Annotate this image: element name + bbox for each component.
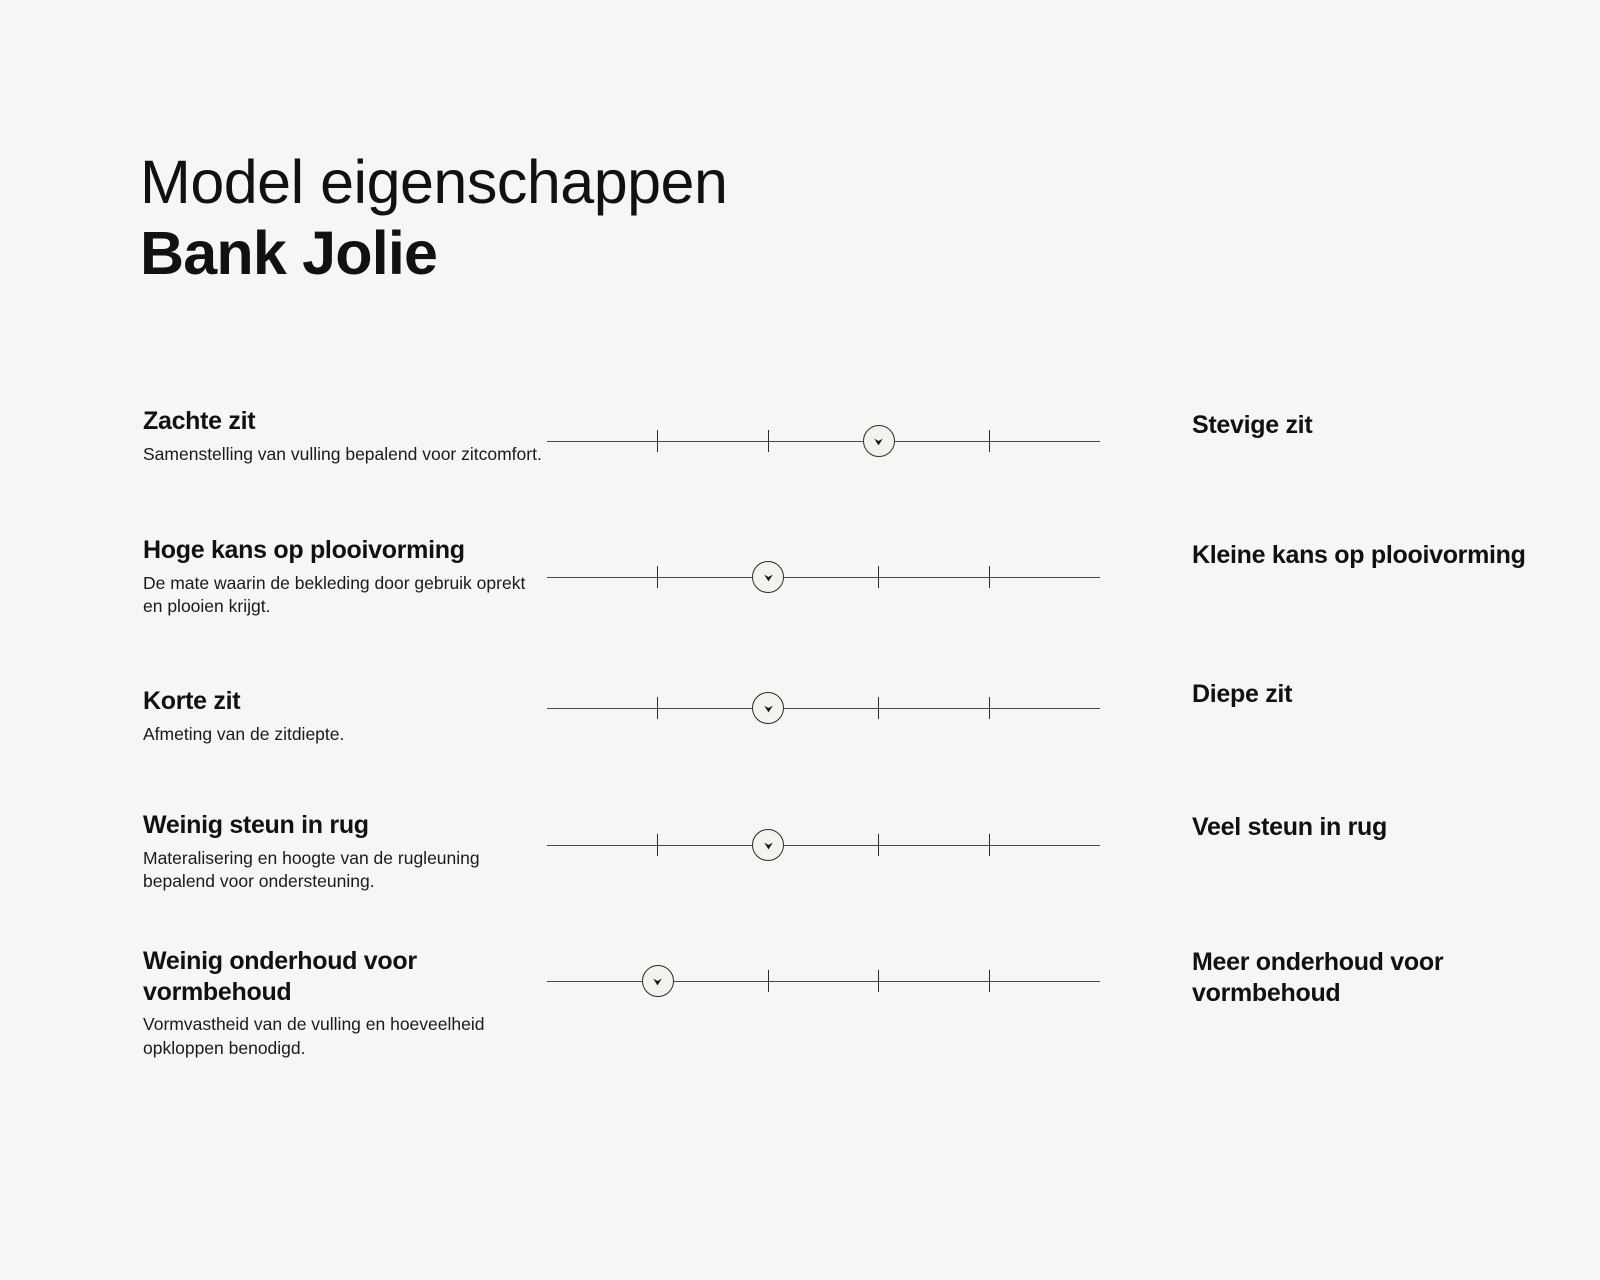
property-right-block: Meer onderhoud voor vormbehoud — [1192, 947, 1552, 1008]
chevron-down-icon — [871, 434, 886, 449]
slider-track[interactable] — [547, 441, 1100, 442]
property-description: Samenstelling van vulling bepalend voor … — [143, 443, 543, 467]
slider-tick-1 — [657, 697, 658, 719]
property-left-block: Korte zitAfmeting van de zitdiepte. — [143, 686, 543, 746]
property-right-label: Kleine kans op plooivorming — [1192, 540, 1552, 571]
slider-track[interactable] — [547, 981, 1100, 982]
slider-tick-4 — [989, 834, 990, 856]
property-right-label: Diepe zit — [1192, 679, 1552, 710]
property-slider[interactable] — [547, 825, 1100, 865]
chevron-down-icon — [650, 974, 665, 989]
slider-handle[interactable] — [752, 829, 784, 861]
property-left-label: Zachte zit — [143, 406, 543, 437]
slider-tick-3 — [878, 970, 879, 992]
slider-track[interactable] — [547, 577, 1100, 578]
property-right-label: Veel steun in rug — [1192, 812, 1552, 843]
property-right-block: Kleine kans op plooivorming — [1192, 540, 1552, 571]
property-left-label: Hoge kans op plooivorming — [143, 535, 543, 566]
slider-tick-1 — [657, 834, 658, 856]
property-slider[interactable] — [547, 421, 1100, 461]
slider-track[interactable] — [547, 708, 1100, 709]
property-description: Materalisering en hoogte van de rugleuni… — [143, 847, 543, 894]
slider-handle[interactable] — [752, 561, 784, 593]
property-description: De mate waarin de bekleding door gebruik… — [143, 572, 543, 619]
chevron-down-icon — [761, 570, 776, 585]
property-description: Afmeting van de zitdiepte. — [143, 723, 543, 747]
property-left-label: Weinig onderhoud voor vormbehoud — [143, 946, 543, 1007]
property-rows: Zachte zitSamenstelling van vulling bepa… — [0, 0, 1600, 1280]
slider-tick-4 — [989, 697, 990, 719]
property-left-block: Weinig onderhoud voor vormbehoudVormvast… — [143, 946, 543, 1060]
slider-handle[interactable] — [642, 965, 674, 997]
property-left-block: Weinig steun in rugMateralisering en hoo… — [143, 810, 543, 894]
property-right-block: Stevige zit — [1192, 410, 1552, 441]
slider-tick-1 — [657, 430, 658, 452]
slider-handle[interactable] — [752, 692, 784, 724]
property-description: Vormvastheid van de vulling en hoeveelhe… — [143, 1013, 543, 1060]
property-left-label: Korte zit — [143, 686, 543, 717]
slider-tick-4 — [989, 430, 990, 452]
chevron-down-icon — [761, 701, 776, 716]
slider-tick-2 — [768, 430, 769, 452]
property-left-block: Hoge kans op plooivormingDe mate waarin … — [143, 535, 543, 619]
slider-tick-4 — [989, 566, 990, 588]
property-left-block: Zachte zitSamenstelling van vulling bepa… — [143, 406, 543, 466]
property-right-label: Stevige zit — [1192, 410, 1552, 441]
property-slider[interactable] — [547, 688, 1100, 728]
slider-tick-3 — [878, 697, 879, 719]
slider-track[interactable] — [547, 845, 1100, 846]
slider-tick-4 — [989, 970, 990, 992]
property-right-label: Meer onderhoud voor vormbehoud — [1192, 947, 1552, 1008]
slider-tick-3 — [878, 834, 879, 856]
property-slider[interactable] — [547, 557, 1100, 597]
property-slider[interactable] — [547, 961, 1100, 1001]
slider-tick-2 — [768, 970, 769, 992]
chevron-down-icon — [761, 838, 776, 853]
slider-tick-1 — [657, 566, 658, 588]
property-left-label: Weinig steun in rug — [143, 810, 543, 841]
property-right-block: Veel steun in rug — [1192, 812, 1552, 843]
property-right-block: Diepe zit — [1192, 679, 1552, 710]
slider-tick-3 — [878, 566, 879, 588]
model-properties-page: Model eigenschappen Bank Jolie Zachte zi… — [0, 0, 1600, 1280]
slider-handle[interactable] — [863, 425, 895, 457]
